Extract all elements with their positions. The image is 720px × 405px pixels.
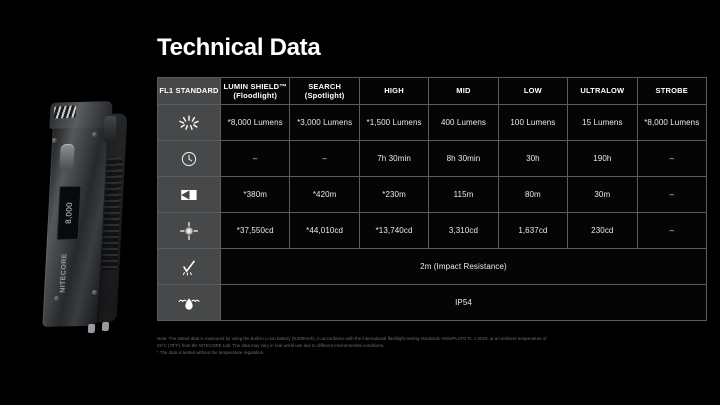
column-header-ultralow: ULTRALOW xyxy=(568,78,637,105)
table-cell: *230m xyxy=(359,177,428,213)
column-header-fl1-standard: FL1 STANDARD xyxy=(158,78,221,105)
flashlight-oled-display: 8,000 xyxy=(57,186,82,241)
technical-data-table: FL1 STANDARD LUMIN SHIELD™ (Floodlight) … xyxy=(157,77,707,321)
table-row: IP54 xyxy=(158,285,707,321)
table-cell: *3,000 Lumens xyxy=(290,105,359,141)
column-header-label: MID xyxy=(456,86,470,95)
table-cell: – xyxy=(637,213,706,249)
flashlight-foot xyxy=(88,324,95,333)
table-cell: 3,310cd xyxy=(429,213,498,249)
table-cell: 230cd xyxy=(568,213,637,249)
table-cell: 7h 30min xyxy=(359,141,428,177)
column-header-high: HIGH xyxy=(359,78,428,105)
table-header: FL1 STANDARD LUMIN SHIELD™ (Floodlight) … xyxy=(158,78,707,105)
column-header-strobe: STROBE xyxy=(637,78,706,105)
column-header-search: SEARCH (Spotlight) xyxy=(290,78,359,105)
table-cell: *13,740cd xyxy=(359,213,428,249)
footnote: Note: The stated data is measured by usi… xyxy=(157,336,697,357)
column-header-mid: MID xyxy=(429,78,498,105)
table-cell: – xyxy=(290,141,359,177)
column-header-sublabel: (Floodlight) xyxy=(233,91,277,100)
flashlight-emitter-array xyxy=(54,105,77,118)
impact-resistance-value: 2m (Impact Resistance) xyxy=(221,249,707,285)
sunburst-icon xyxy=(158,105,221,141)
flashlight-foot xyxy=(102,322,109,331)
flashlight-product-photo: 8,000 NITECORE xyxy=(34,100,130,340)
table-cell: *380m xyxy=(221,177,290,213)
column-header-label: LOW xyxy=(524,86,542,95)
table-cell: 115m xyxy=(429,177,498,213)
table-cell: 80m xyxy=(498,177,567,213)
column-header-label: SEARCH xyxy=(308,82,341,91)
column-header-label: STROBE xyxy=(656,86,688,95)
table-row: – – 7h 30min 8h 30min 30h 190h – xyxy=(158,141,707,177)
column-header-low: LOW xyxy=(498,78,567,105)
table-cell: *1,500 Lumens xyxy=(359,105,428,141)
column-header-lumin-shield: LUMIN SHIELD™ (Floodlight) xyxy=(221,78,290,105)
content-panel: Technical Data FL1 STANDARD LUMIN SHIELD… xyxy=(148,0,720,405)
table-cell: 1,637cd xyxy=(498,213,567,249)
table-cell: – xyxy=(637,141,706,177)
table-row: *37,550cd *44,010cd *13,740cd 3,310cd 1,… xyxy=(158,213,707,249)
table-cell: *8,000 Lumens xyxy=(637,105,706,141)
table-cell: 30m xyxy=(568,177,637,213)
column-header-label: LUMIN SHIELD™ xyxy=(223,82,286,91)
column-header-label: HIGH xyxy=(384,86,404,95)
table-header-row: FL1 STANDARD LUMIN SHIELD™ (Floodlight) … xyxy=(158,78,707,105)
column-header-sublabel: (Spotlight) xyxy=(305,91,345,100)
table-body: *8,000 Lumens *3,000 Lumens *1,500 Lumen… xyxy=(158,105,707,321)
flashlight-brand-label: NITECORE xyxy=(55,250,73,297)
peak-intensity-icon xyxy=(158,213,221,249)
table-cell: *8,000 Lumens xyxy=(221,105,290,141)
table-cell: 30h xyxy=(498,141,567,177)
table-cell: 190h xyxy=(568,141,637,177)
footnote-line-2: 25°C (79°F) from the NITECORE Lab. The d… xyxy=(157,343,697,350)
flashlight-pocket-clip xyxy=(103,116,116,142)
flashlight-display-value: 8,000 xyxy=(64,202,74,224)
footnote-line-1: Note: The stated data is measured by usi… xyxy=(157,336,697,343)
table-cell: – xyxy=(221,141,290,177)
table-cell: *37,550cd xyxy=(221,213,290,249)
beam-distance-icon xyxy=(158,177,221,213)
table-cell: – xyxy=(637,177,706,213)
table-cell: 8h 30min xyxy=(429,141,498,177)
table-cell: *44,010cd xyxy=(290,213,359,249)
water-resistance-value: IP54 xyxy=(221,285,707,321)
water-resistance-icon xyxy=(158,285,221,321)
table-row: 2m (Impact Resistance) xyxy=(158,249,707,285)
page-title: Technical Data xyxy=(157,34,320,62)
table-cell: 15 Lumens xyxy=(568,105,637,141)
footnote-line-3: * The data is tested without the tempera… xyxy=(157,350,697,357)
clock-icon xyxy=(158,141,221,177)
flashlight-power-switch xyxy=(59,144,74,170)
table-cell: 400 Lumens xyxy=(429,105,498,141)
table-row: *380m *420m *230m 115m 80m 30m – xyxy=(158,177,707,213)
column-header-label: FL1 STANDARD xyxy=(159,86,218,95)
product-image-panel: 8,000 NITECORE xyxy=(0,0,148,405)
table-row: *8,000 Lumens *3,000 Lumens *1,500 Lumen… xyxy=(158,105,707,141)
table-cell: *420m xyxy=(290,177,359,213)
flashlight-brand-text: NITECORE xyxy=(59,253,68,293)
column-header-label: ULTRALOW xyxy=(580,86,624,95)
table-cell: 100 Lumens xyxy=(498,105,567,141)
impact-resistance-icon xyxy=(158,249,221,285)
